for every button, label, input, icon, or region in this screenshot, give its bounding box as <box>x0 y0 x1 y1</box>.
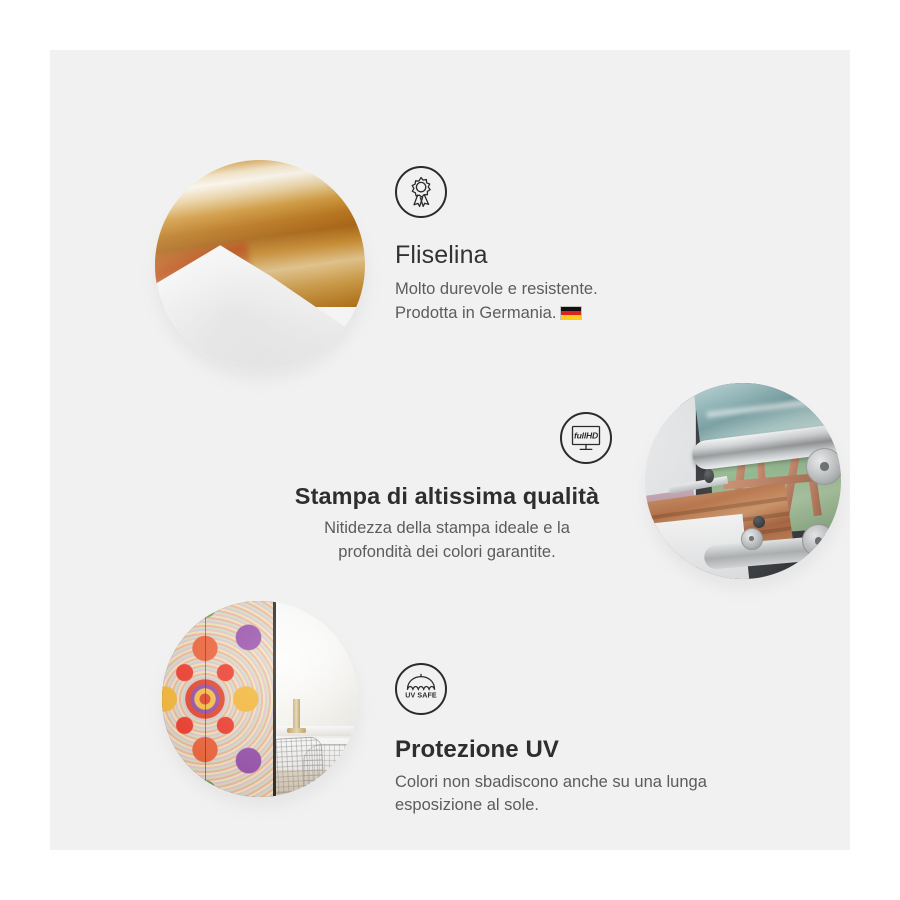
feature-description: Nitidezza della stampa ideale e la profo… <box>282 517 612 564</box>
feature-title: Stampa di altissima qualità <box>282 482 612 511</box>
feature-description: Molto durevole e resistente. Prodotta in… <box>395 278 815 325</box>
peeling-wallpaper-photo <box>155 160 365 370</box>
award-rosette-icon <box>395 166 447 218</box>
feature-stampa-qualita: fullHD Stampa di altissima qualità Nitid… <box>282 412 612 564</box>
feature-title: Protezione UV <box>395 735 815 765</box>
feature-protezione-uv: UV SAFE Protezione UV Colori non sbadisc… <box>395 663 815 818</box>
feature-fliselina: Fliselina Molto durevole e resistente. P… <box>395 166 815 325</box>
uv-safe-icon-label: UV SAFE <box>405 691 437 699</box>
photo-shading <box>162 601 358 797</box>
fullhd-monitor-icon: fullHD <box>560 412 612 464</box>
photo-shading <box>155 160 365 370</box>
feature-desc-line-2: Prodotta in Germania. <box>395 302 815 325</box>
printing-press-photo <box>645 383 841 579</box>
photo-shading <box>645 383 841 579</box>
screenshot-stage: Fliselina Molto durevole e resistente. P… <box>0 0 900 900</box>
mandala-wallpaper-room-photo <box>162 601 358 797</box>
feature-desc-line-2: profondità dei colori garantite. <box>282 541 612 564</box>
feature-desc-line-2: esposizione al sole. <box>395 794 815 817</box>
feature-desc-line-1: Nitidezza della stampa ideale e la <box>282 517 612 540</box>
german-flag-icon <box>560 306 582 320</box>
fullhd-icon-label: fullHD <box>574 431 598 441</box>
feature-desc-line-1: Molto durevole e resistente. <box>395 278 815 301</box>
feature-description: Colori non sbadiscono anche su una lunga… <box>395 771 815 818</box>
feature-desc-line-1: Colori non sbadiscono anche su una lunga <box>395 771 815 794</box>
features-panel: Fliselina Molto durevole e resistente. P… <box>50 50 850 850</box>
feature-title: Fliselina <box>395 240 815 271</box>
uv-safe-umbrella-icon: UV SAFE <box>395 663 447 715</box>
